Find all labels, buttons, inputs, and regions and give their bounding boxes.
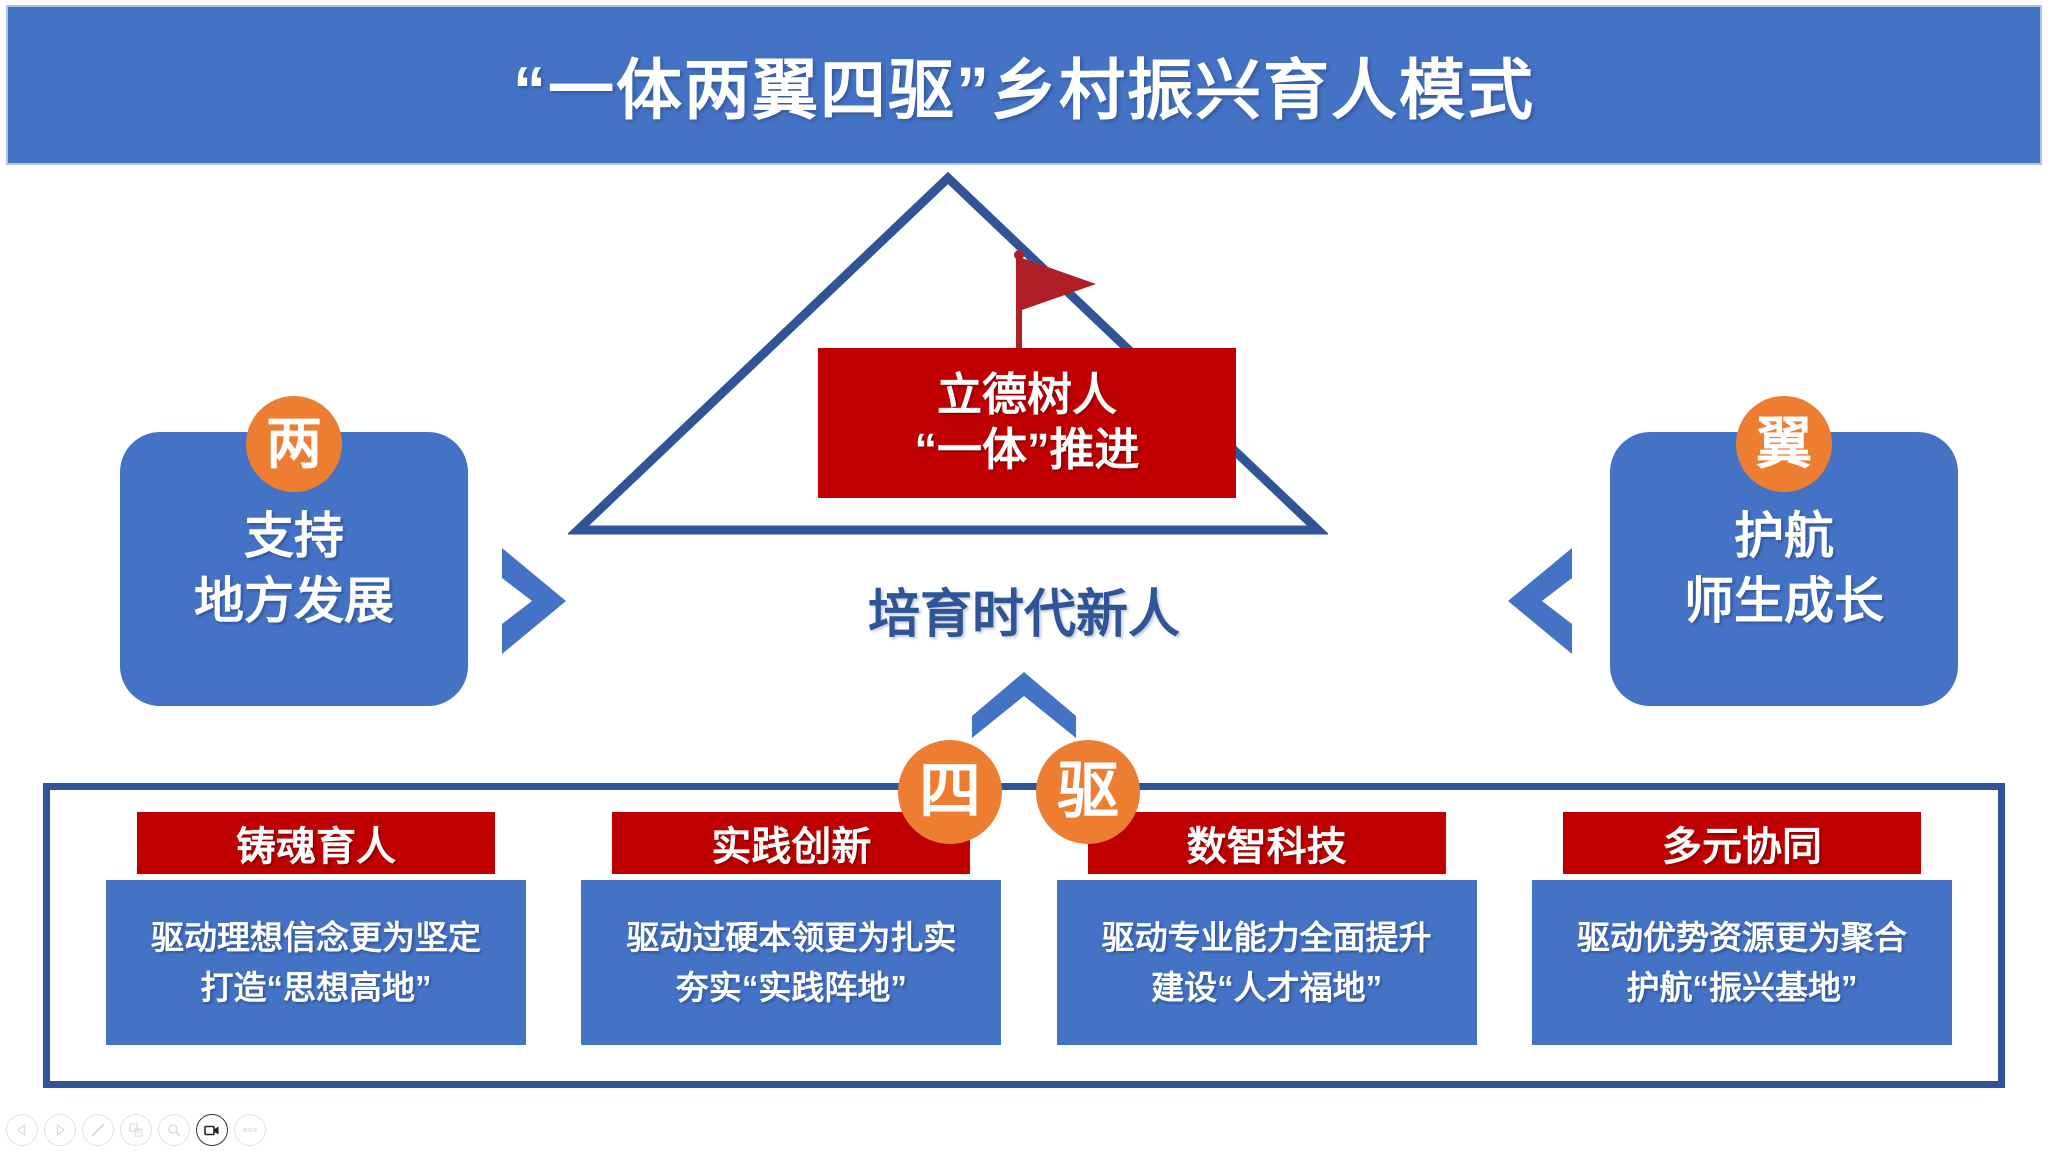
wing-right-line-2: 师生成长 <box>1684 569 1884 634</box>
slide-title-banner: “一体两翼四驱”乡村振兴育人模式 <box>6 5 2042 165</box>
chevron-left-icon <box>1508 548 1572 654</box>
wing-left-badge: 两 <box>246 396 342 492</box>
viewer-toolbar[interactable] <box>6 1110 266 1150</box>
wing-left[interactable]: 支持 地方发展 两 <box>120 396 468 706</box>
play-icon[interactable] <box>44 1114 76 1146</box>
center-caption: 培育时代新人 <box>724 572 1324 647</box>
four-drivers-panel: 铸魂育人 驱动理想信念更为坚定 打造“思想高地” 实践创新 驱动过硬本领更为扎实… <box>43 783 2005 1088</box>
more-icon[interactable] <box>234 1114 266 1146</box>
driver-3-line-2: 建设“人才福地” <box>1151 963 1382 1013</box>
driver-body-2: 驱动过硬本领更为扎实 夯实“实践阵地” <box>581 880 1001 1045</box>
driver-1-line-1: 驱动理想信念更为坚定 <box>151 913 481 963</box>
driver-2-line-1: 驱动过硬本领更为扎实 <box>626 913 956 963</box>
wing-right[interactable]: 护航 师生成长 翼 <box>1610 396 1958 706</box>
driver-card-1[interactable]: 铸魂育人 驱动理想信念更为坚定 打造“思想高地” <box>98 812 534 1064</box>
wing-left-line-2: 地方发展 <box>194 569 394 634</box>
previous-icon[interactable] <box>6 1114 38 1146</box>
driver-4-line-2: 护航“振兴基地” <box>1626 963 1857 1013</box>
chevron-right-icon <box>502 548 566 654</box>
slide-canvas: “一体两翼四驱”乡村振兴育人模式 立德树人 “一体”推进 培育时代新人 支持 地… <box>0 0 2048 1152</box>
chevron-up-icon <box>972 672 1076 738</box>
driver-body-3: 驱动专业能力全面提升 建设“人才福地” <box>1057 880 1477 1045</box>
driver-title-3: 数智科技 <box>1088 812 1446 874</box>
driver-title-1: 铸魂育人 <box>137 812 495 874</box>
driver-card-2[interactable]: 实践创新 驱动过硬本领更为扎实 夯实“实践阵地” <box>573 812 1009 1064</box>
driver-title-4: 多元协同 <box>1563 812 1921 874</box>
pages-icon[interactable] <box>120 1114 152 1146</box>
core-line-1: 立德树人 <box>937 368 1117 423</box>
driver-card-4[interactable]: 多元协同 驱动优势资源更为聚合 护航“振兴基地” <box>1524 812 1960 1064</box>
wing-right-badge: 翼 <box>1736 396 1832 492</box>
wing-right-line-1: 护航 <box>1734 504 1834 569</box>
pen-icon[interactable] <box>82 1114 114 1146</box>
core-concept-box: 立德树人 “一体”推进 <box>818 348 1236 498</box>
drive-badge-si: 四 <box>898 740 1002 844</box>
driver-row: 铸魂育人 驱动理想信念更为坚定 打造“思想高地” 实践创新 驱动过硬本领更为扎实… <box>98 812 1960 1064</box>
page-title: “一体两翼四驱”乡村振兴育人模式 <box>513 37 1535 133</box>
driver-body-1: 驱动理想信念更为坚定 打造“思想高地” <box>106 880 526 1045</box>
drive-badge-qu: 驱 <box>1036 740 1140 844</box>
search-icon[interactable] <box>158 1114 190 1146</box>
wing-left-line-1: 支持 <box>244 504 344 569</box>
driver-1-line-2: 打造“思想高地” <box>201 963 432 1013</box>
driver-2-line-2: 夯实“实践阵地” <box>676 963 907 1013</box>
core-line-2: “一体”推进 <box>914 423 1139 478</box>
driver-card-3[interactable]: 数智科技 驱动专业能力全面提升 建设“人才福地” <box>1049 812 1485 1064</box>
video-icon[interactable] <box>196 1114 228 1146</box>
flag-icon <box>1010 248 1100 358</box>
driver-4-line-1: 驱动优势资源更为聚合 <box>1577 913 1907 963</box>
driver-3-line-1: 驱动专业能力全面提升 <box>1102 913 1432 963</box>
driver-body-4: 驱动优势资源更为聚合 护航“振兴基地” <box>1532 880 1952 1045</box>
